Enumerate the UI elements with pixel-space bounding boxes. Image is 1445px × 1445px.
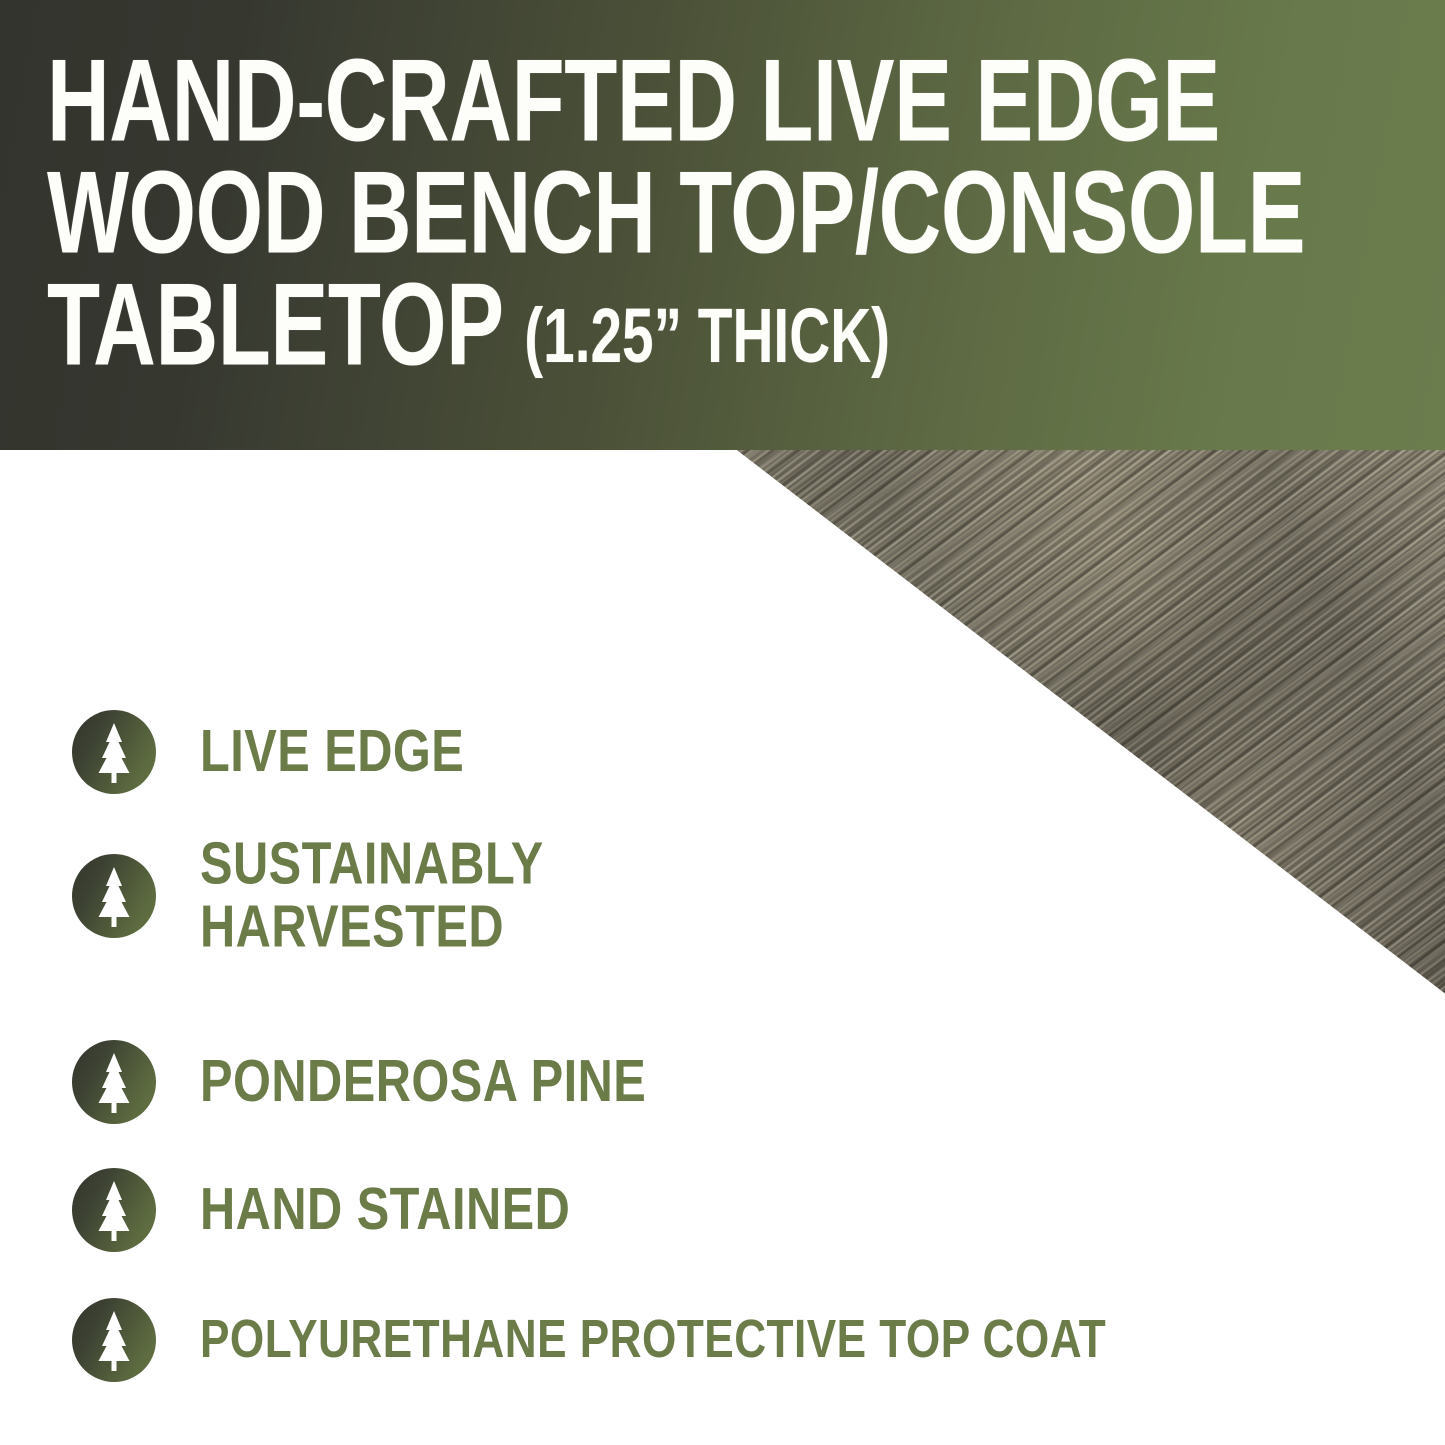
feature-label: LIVE EDGE (200, 721, 464, 784)
thickness-note: (1.25” THICK) (504, 270, 890, 400)
pine-tree-icon (72, 710, 156, 794)
feature-label: SUSTAINABLY HARVESTED (200, 833, 544, 958)
pine-tree-icon (72, 1168, 156, 1252)
header-banner: HAND-CRAFTED LIVE EDGE WOOD BENCH TOP/CO… (0, 0, 1445, 450)
pine-tree-icon (72, 854, 156, 938)
infographic-canvas: HAND-CRAFTED LIVE EDGE WOOD BENCH TOP/CO… (0, 0, 1445, 1445)
feature-item-polyurethane-top-coat[interactable]: POLYURETHANE PROTECTIVE TOP COAT (72, 1298, 1185, 1382)
title-line-1: HAND-CRAFTED LIVE EDGE (47, 36, 1217, 166)
pine-tree-icon (72, 1298, 156, 1382)
title-line-3-main: TABLETOP (47, 260, 504, 390)
feature-item-live-edge[interactable]: LIVE EDGE (72, 710, 487, 794)
title-line-3: TABLETOP(1.25” THICK) (47, 260, 1217, 403)
feature-label: PONDEROSA PINE (200, 1051, 646, 1114)
title-line-2: WOOD BENCH TOP/CONSOLE (47, 148, 1217, 278)
feature-label: POLYURETHANE PROTECTIVE TOP COAT (200, 1311, 1106, 1369)
feature-label: HAND STAINED (200, 1179, 570, 1242)
feature-item-ponderosa-pine[interactable]: PONDEROSA PINE (72, 1040, 685, 1124)
pine-tree-icon (72, 1040, 156, 1124)
feature-item-sustainably-harvested[interactable]: SUSTAINABLY HARVESTED (72, 840, 574, 952)
feature-item-hand-stained[interactable]: HAND STAINED (72, 1168, 603, 1252)
page-title: HAND-CRAFTED LIVE EDGE WOOD BENCH TOP/CO… (47, 36, 1407, 383)
